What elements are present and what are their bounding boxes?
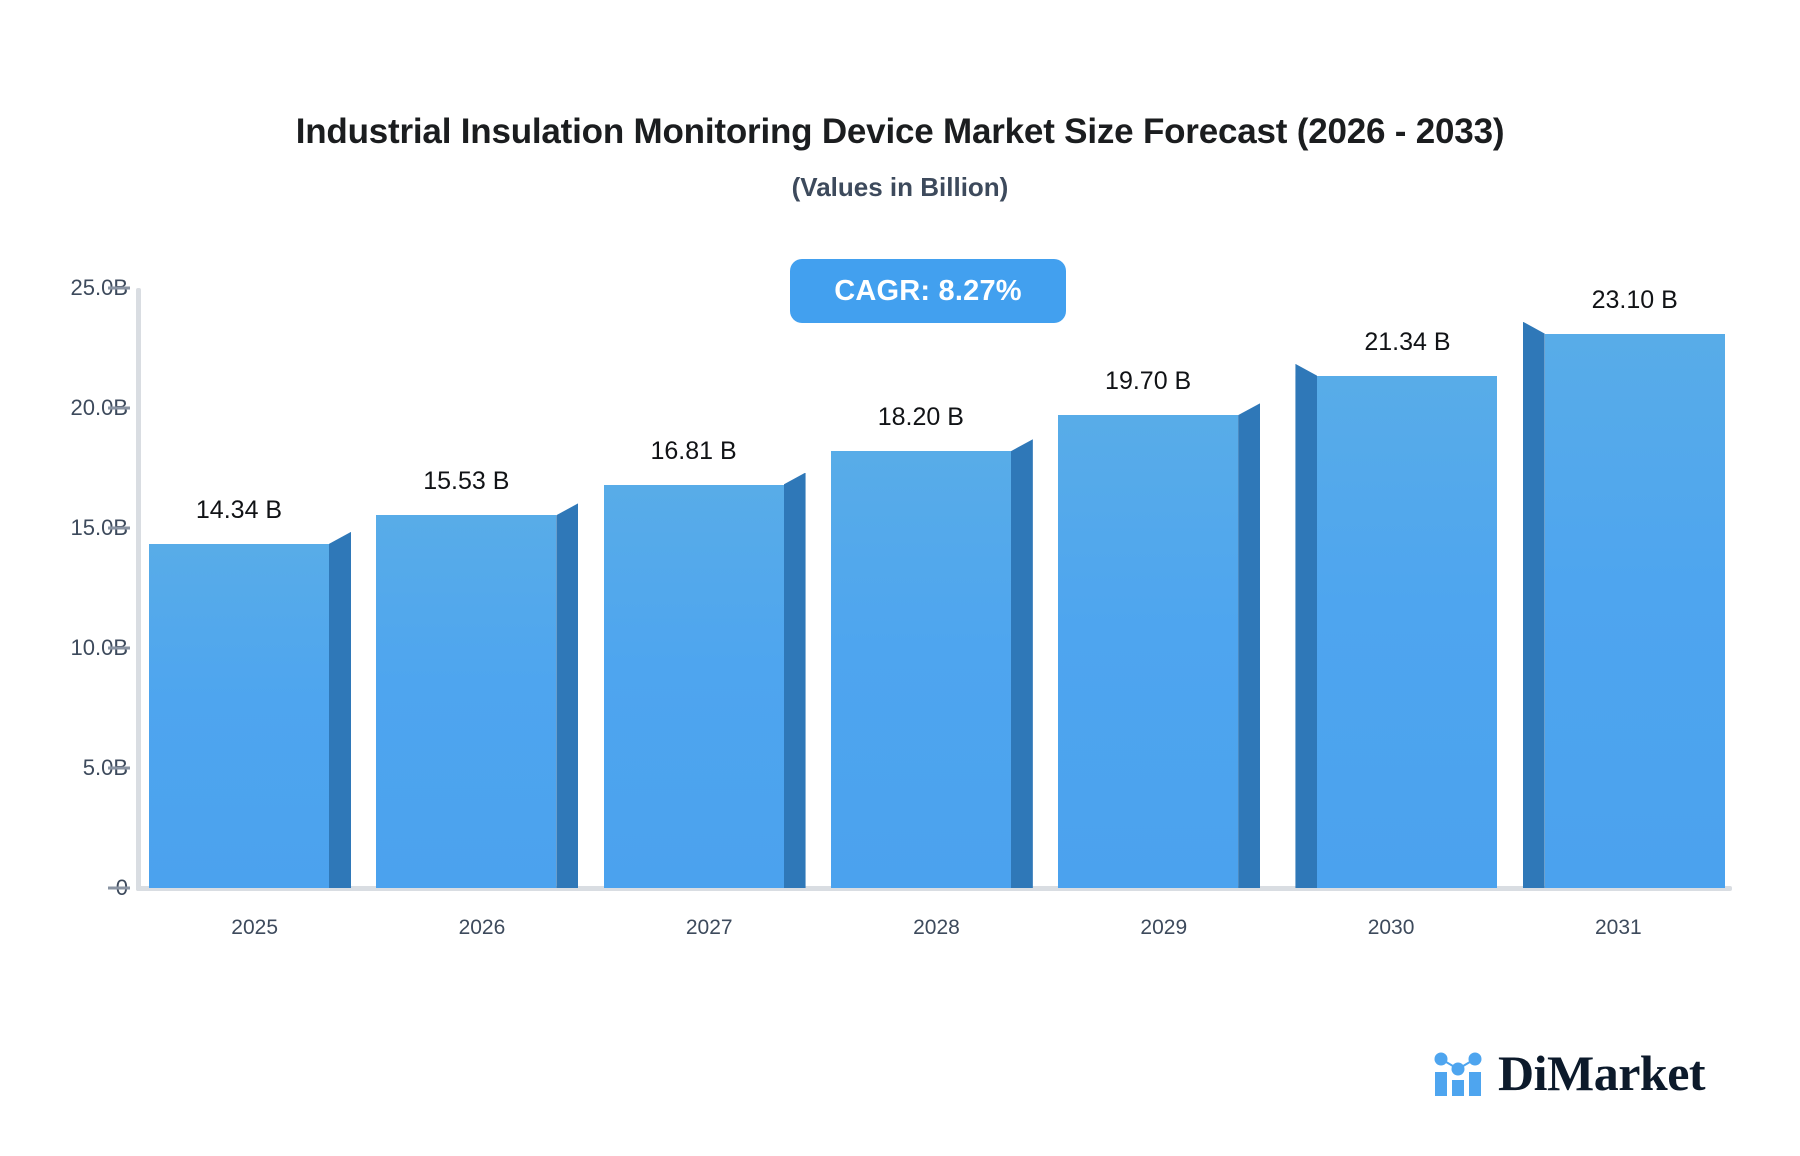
chart-canvas: Industrial Insulation Monitoring Device … xyxy=(0,0,1800,1156)
brand-name: DiMarket xyxy=(1498,1048,1705,1098)
bar-side-face xyxy=(1295,364,1317,888)
x-axis-label-2030: 2030 xyxy=(1277,916,1504,940)
bar-front-face xyxy=(1545,334,1725,888)
x-axis-label-2026: 2026 xyxy=(368,916,595,940)
y-axis-tick-mark xyxy=(108,407,130,410)
bar-value-label: 19.70 B xyxy=(1038,367,1258,396)
bar-side-face xyxy=(784,473,806,888)
x-axis-label-2029: 2029 xyxy=(1050,916,1277,940)
y-axis-tick-mark xyxy=(108,527,130,530)
bar-value-label: 23.10 B xyxy=(1525,286,1745,315)
bar-front-face xyxy=(604,485,784,888)
bar-front-face xyxy=(376,515,556,888)
y-axis-line xyxy=(136,288,141,891)
bar-front-face xyxy=(1058,415,1238,888)
y-axis-tick-mark xyxy=(108,887,130,890)
brand-logo: DiMarket xyxy=(1432,1048,1705,1098)
x-axis-label-2028: 2028 xyxy=(823,916,1050,940)
bar-value-label: 16.81 B xyxy=(584,437,804,466)
bar-side-face xyxy=(1523,322,1545,888)
x-axis-label-2027: 2027 xyxy=(596,916,823,940)
bar-front-face xyxy=(1317,376,1497,888)
bar-value-label: 15.53 B xyxy=(356,467,576,496)
y-axis-tick-mark xyxy=(108,287,130,290)
bar-value-label: 18.20 B xyxy=(811,403,1031,432)
x-axis-label-2025: 2025 xyxy=(141,916,368,940)
y-axis-tick-mark xyxy=(108,767,130,770)
bar-side-face xyxy=(1011,439,1033,888)
plot-area: 25.0B20.0B15.0B10.0B5.0B0 14.34 B15.53 B… xyxy=(0,0,1800,1156)
x-axis-label-2031: 2031 xyxy=(1505,916,1732,940)
bar-side-face xyxy=(556,503,578,888)
bar-value-label: 14.34 B xyxy=(129,496,349,525)
bar-value-label: 21.34 B xyxy=(1297,328,1517,357)
bar-side-face xyxy=(329,532,351,888)
bar-chart-dots-icon xyxy=(1432,1050,1484,1096)
bar-front-face xyxy=(149,544,329,888)
y-axis-tick-mark xyxy=(108,647,130,650)
bar-front-face xyxy=(831,451,1011,888)
bar-side-face xyxy=(1238,403,1260,888)
